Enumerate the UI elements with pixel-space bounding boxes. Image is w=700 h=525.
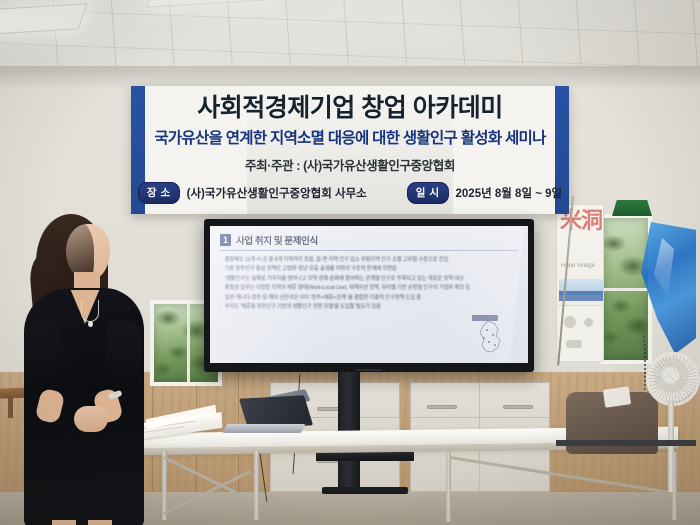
green-lamp-shade <box>612 200 652 216</box>
banner-host-line: 주최·주관 : (사)국가유산생활인구중앙협회 <box>245 155 455 174</box>
banner-place-value: (사)국가유산생활인구중앙협회 사무소 <box>187 185 367 201</box>
date-pill-icon: 일 시 <box>407 182 449 204</box>
presenter-clasped-hands <box>74 406 108 432</box>
map-caption-tag <box>472 315 498 321</box>
presentation-slide: 1 사업 취지 및 문제인식 ·충청북도 11개 시·군 중 8개 지역까지 포… <box>210 226 528 363</box>
wall-poster: 米洞 Hope Village <box>556 204 604 362</box>
slide-bullet: ·충청북도 11개 시·군 중 8개 지역까지 포함, 읍·면 지역 인구 감소… <box>220 256 518 265</box>
tv-brand-logo <box>356 369 382 371</box>
tv-stand-base <box>322 487 408 494</box>
event-banner: 사회적경제기업 창업 아카데미 국가유산을 연계한 지역소멸 대응에 대한 생활… <box>131 86 569 214</box>
seminar-room-scene: 米洞 Hope Village 사회적경제기업 창업 아카데미 국가유산을 연계… <box>0 0 700 525</box>
presenter-leg-right <box>88 520 112 525</box>
slide-divider <box>220 250 518 251</box>
slide-bullet-list: ·충청북도 11개 시·군 중 8개 지역까지 포함, 읍·면 지역 인구 감소… <box>220 256 518 313</box>
slide-bullet: ·기존 정주인구 중심 정책은 고령화·청년 유출·출생률 저하의 구조적 한계… <box>220 265 518 274</box>
presenter-necklace <box>81 300 99 322</box>
slide-bullet: ·'생활인구'는 실제로 거주지를 벗어나고 지역 경제·문화에 참여하는 관계… <box>220 275 518 284</box>
tv-stand-shelf <box>316 452 414 461</box>
banner-date-value: 2025년 8월 8일 ~ 9일 <box>456 185 563 201</box>
table-leg <box>254 450 259 520</box>
tv-screen[interactable]: 1 사업 취지 및 문제인식 ·충청북도 11개 시·군 중 8개 지역까지 포… <box>210 226 528 363</box>
presenter <box>18 214 148 525</box>
slide-heading-row: 1 사업 취지 및 문제인식 <box>220 233 518 247</box>
fan-stand <box>668 400 674 492</box>
banner-title: 사회적경제기업 창업 아카데미 <box>197 95 502 121</box>
presenter-arm-right <box>106 320 142 396</box>
korea-map-icon <box>462 318 520 358</box>
laptop-keyboard[interactable] <box>223 424 305 433</box>
fan-icon <box>646 352 700 406</box>
presenter-pendant <box>88 321 93 327</box>
table-leg <box>446 452 451 522</box>
white-object-on-bag <box>603 386 631 407</box>
slide-bullet: ·우리도 '체류형 정주인구 기반의 생활인구 전환 모델'을 도입할 필요가 … <box>220 303 518 312</box>
poster-lower-panel <box>558 305 604 362</box>
presenter-leg-left <box>52 520 76 525</box>
fan-grill <box>649 355 697 403</box>
slide-heading: 사업 취지 및 문제인식 <box>236 233 318 247</box>
section-number-badge: 1 <box>220 234 231 246</box>
banner-subtitle: 국가유산을 연계한 지역소멸 대응에 대한 생활인구 활성화 세미나 <box>154 126 545 148</box>
presentation-tv[interactable]: 1 사업 취지 및 문제인식 ·충청북도 11개 시·군 중 8개 지역까지 포… <box>204 219 534 372</box>
place-pill-icon: 장 소 <box>138 182 180 204</box>
right-shelf <box>556 440 696 446</box>
poster-accent-band <box>559 291 603 301</box>
slide-bullet: ·일본·캐나다·호주 등 해외 선진국은 이미 '정주+체류+관계' 를 결합한… <box>220 294 518 303</box>
banner-details-row: 장 소 (사)국가유산생활인구중앙협회 사무소 일 시 2025년 8월 8일 … <box>138 182 562 204</box>
presenter-arm-left <box>24 322 60 396</box>
slide-bullet: ·충청권 일부는 다양한 지역의 체류 형태(Work-Local-Live),… <box>220 284 518 293</box>
